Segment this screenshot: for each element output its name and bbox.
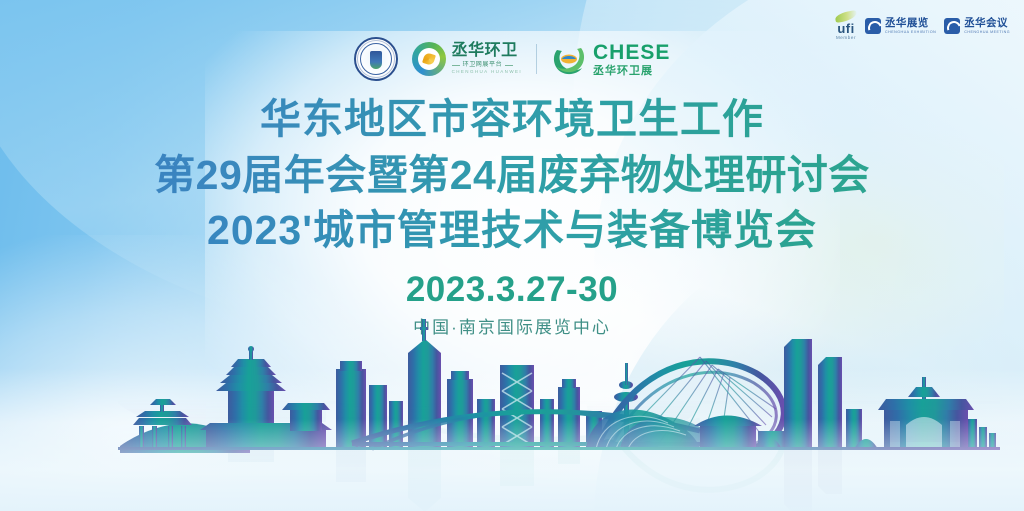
leaf-circle-icon [412, 42, 446, 76]
badge-chenghua-meeting-en: CHENGHUA MEETING [964, 31, 1010, 35]
badge-chenghua-meeting-text: 丞华会议 CHENGHUA MEETING [964, 18, 1010, 34]
skyline-illustration [0, 296, 1024, 511]
spiral-square-icon [865, 18, 881, 34]
badge-chenghua-exhibition-text: 丞华展览 CHENGHUA EXHIBITION [885, 18, 936, 34]
headline-line-1: 华东地区市容环境卫生工作 [0, 96, 1024, 144]
logo-association-seal [354, 37, 398, 81]
poster-canvas: 丞华环卫 环卫网展平台 CHENGHUA HUANWEI CHESE 丞华环卫展 [0, 0, 1024, 511]
ufi-member-label: Member [836, 36, 856, 41]
chenghua-huanwei-sub: 环卫网展平台 [452, 62, 522, 68]
spiral-square-icon [944, 18, 960, 34]
ufi-logo: ufi Member [835, 12, 857, 41]
partner-badge-row: ufi Member 丞华展览 CHENGHUA EXHIBITION 丞华会议… [835, 12, 1010, 41]
skyline-reflection [0, 398, 1024, 511]
logo-chenghua-huanwei: 丞华环卫 环卫网展平台 CHENGHUA HUANWEI [412, 42, 522, 76]
chese-text: CHESE 丞华环卫展 [593, 42, 670, 77]
chese-subtitle: 丞华环卫展 [593, 66, 670, 77]
badge-chenghua-meeting: 丞华会议 CHENGHUA MEETING [944, 18, 1010, 34]
headline-line-2: 第29届年会暨第24届废弃物处理研讨会 [0, 152, 1024, 200]
ufi-wordmark: ufi [837, 22, 854, 35]
badge-chenghua-exhibition-en: CHENGHUA EXHIBITION [885, 31, 936, 35]
headline-block: 华东地区市容环境卫生工作 第29届年会暨第24届废弃物处理研讨会 2023'城市… [0, 96, 1024, 255]
association-seal-icon [354, 37, 398, 81]
seal-ring [357, 40, 395, 78]
logo-chese: CHESE 丞华环卫展 [551, 42, 670, 77]
badge-chenghua-meeting-cn: 丞华会议 [964, 18, 1010, 29]
headline-line-3: 2023'城市管理技术与装备博览会 [0, 207, 1024, 255]
chenghua-huanwei-text: 丞华环卫 环卫网展平台 CHENGHUA HUANWEI [452, 43, 522, 75]
badge-chenghua-exhibition: 丞华展览 CHENGHUA EXHIBITION [865, 18, 936, 34]
chenghua-huanwei-pinyin: CHENGHUA HUANWEI [452, 70, 522, 75]
chese-wordmark: CHESE [593, 42, 670, 63]
badge-chenghua-exhibition-cn: 丞华展览 [885, 18, 936, 29]
chenghua-huanwei-main: 丞华环卫 [452, 43, 522, 59]
logo-divider [536, 44, 537, 74]
green-hands-leaf-icon [551, 42, 587, 76]
